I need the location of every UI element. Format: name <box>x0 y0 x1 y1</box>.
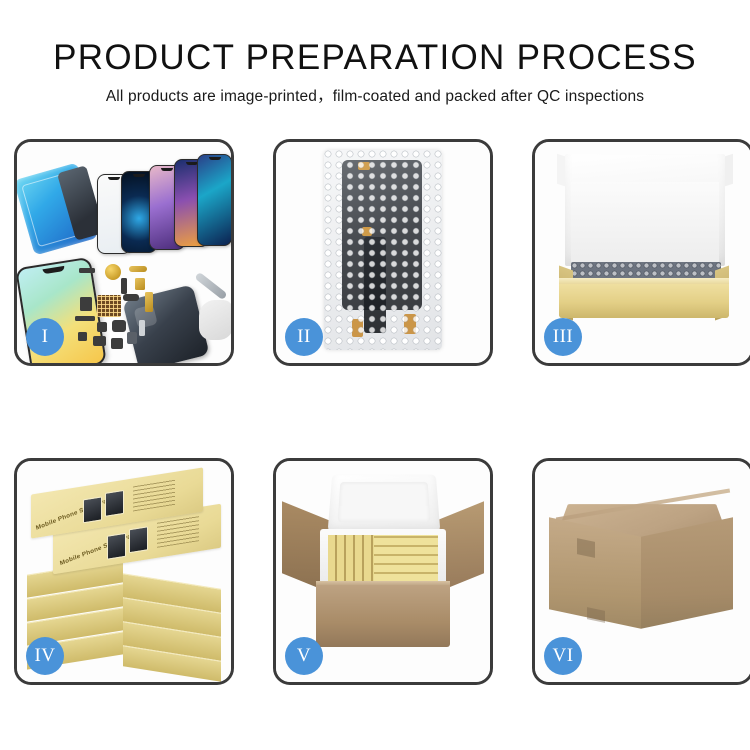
box-label-text: Mobile Phone Spare Parts <box>59 530 140 567</box>
tape-strip <box>358 162 370 170</box>
small-part <box>75 316 95 321</box>
carton-front-right-face <box>641 517 733 629</box>
notch-icon <box>133 174 145 177</box>
flex-cable-gold <box>135 278 145 290</box>
step-badge-4: IV <box>26 637 64 675</box>
notch-icon <box>108 177 120 180</box>
step-badge-6: VI <box>544 637 582 675</box>
page-subtitle: All products are image-printed，film-coat… <box>0 87 750 107</box>
phone-image-on-box <box>105 490 124 517</box>
tweezers-tool-icon <box>194 272 227 300</box>
yellow-boxes-inside <box>328 535 438 581</box>
phone-image-on-box <box>107 533 126 560</box>
small-part <box>123 294 139 301</box>
step-card-3[interactable]: III <box>532 139 750 366</box>
step-card-5[interactable]: V <box>273 458 493 685</box>
assembled-phone <box>15 257 107 366</box>
yellow-boxes-vertical <box>328 535 374 581</box>
box-label-text: Mobile Phone Spare Parts <box>35 494 116 531</box>
notch-icon <box>209 157 221 160</box>
yellow-boxes-horizontal <box>374 535 438 581</box>
page-header: PRODUCT PREPARATION PROCESS All products… <box>0 0 750 107</box>
carton-front <box>316 585 450 647</box>
ic-chip-grid <box>97 295 121 317</box>
carton-handle-tab <box>587 607 605 623</box>
box-spec-lines <box>133 479 175 512</box>
page-title: PRODUCT PREPARATION PROCESS <box>0 38 750 78</box>
small-part <box>78 332 87 341</box>
yellow-box-front <box>559 284 729 318</box>
step-badge-3: III <box>544 318 582 356</box>
notch-icon <box>161 168 173 171</box>
tape-strip <box>404 314 416 334</box>
flex-cable <box>364 237 386 333</box>
foam-back-wall <box>571 182 719 270</box>
small-part <box>97 322 107 332</box>
small-part <box>121 278 127 294</box>
small-part <box>139 320 145 336</box>
flex-cable-gold <box>145 292 153 312</box>
small-part <box>127 332 137 344</box>
box-spec-lines <box>157 515 199 548</box>
small-part <box>79 268 95 273</box>
step-card-2[interactable]: II <box>273 139 493 366</box>
tape-strip <box>352 319 363 337</box>
styrofoam-lid <box>328 475 441 532</box>
step-card-1[interactable]: I <box>14 139 234 366</box>
gloved-hand <box>199 300 233 340</box>
notch-icon <box>186 162 198 165</box>
step-card-6[interactable]: VI <box>532 458 750 685</box>
small-part <box>112 320 126 332</box>
small-part <box>111 338 123 349</box>
step-badge-5: V <box>285 637 323 675</box>
step-card-4[interactable]: Mobile Phone Spare Parts Mobile Phone Sp… <box>14 458 234 685</box>
process-step-grid: I II III <box>14 139 736 685</box>
small-part <box>93 336 106 346</box>
step-badge-2: II <box>285 318 323 356</box>
phone-image-on-box <box>129 526 148 553</box>
step-badge-1: I <box>26 318 64 356</box>
flex-cable-gold <box>129 266 147 272</box>
small-part <box>80 297 92 311</box>
speaker-component <box>105 264 121 280</box>
phone-screen-teal <box>197 154 232 246</box>
tape-strip <box>362 227 372 236</box>
phone-image-on-box <box>83 496 102 523</box>
